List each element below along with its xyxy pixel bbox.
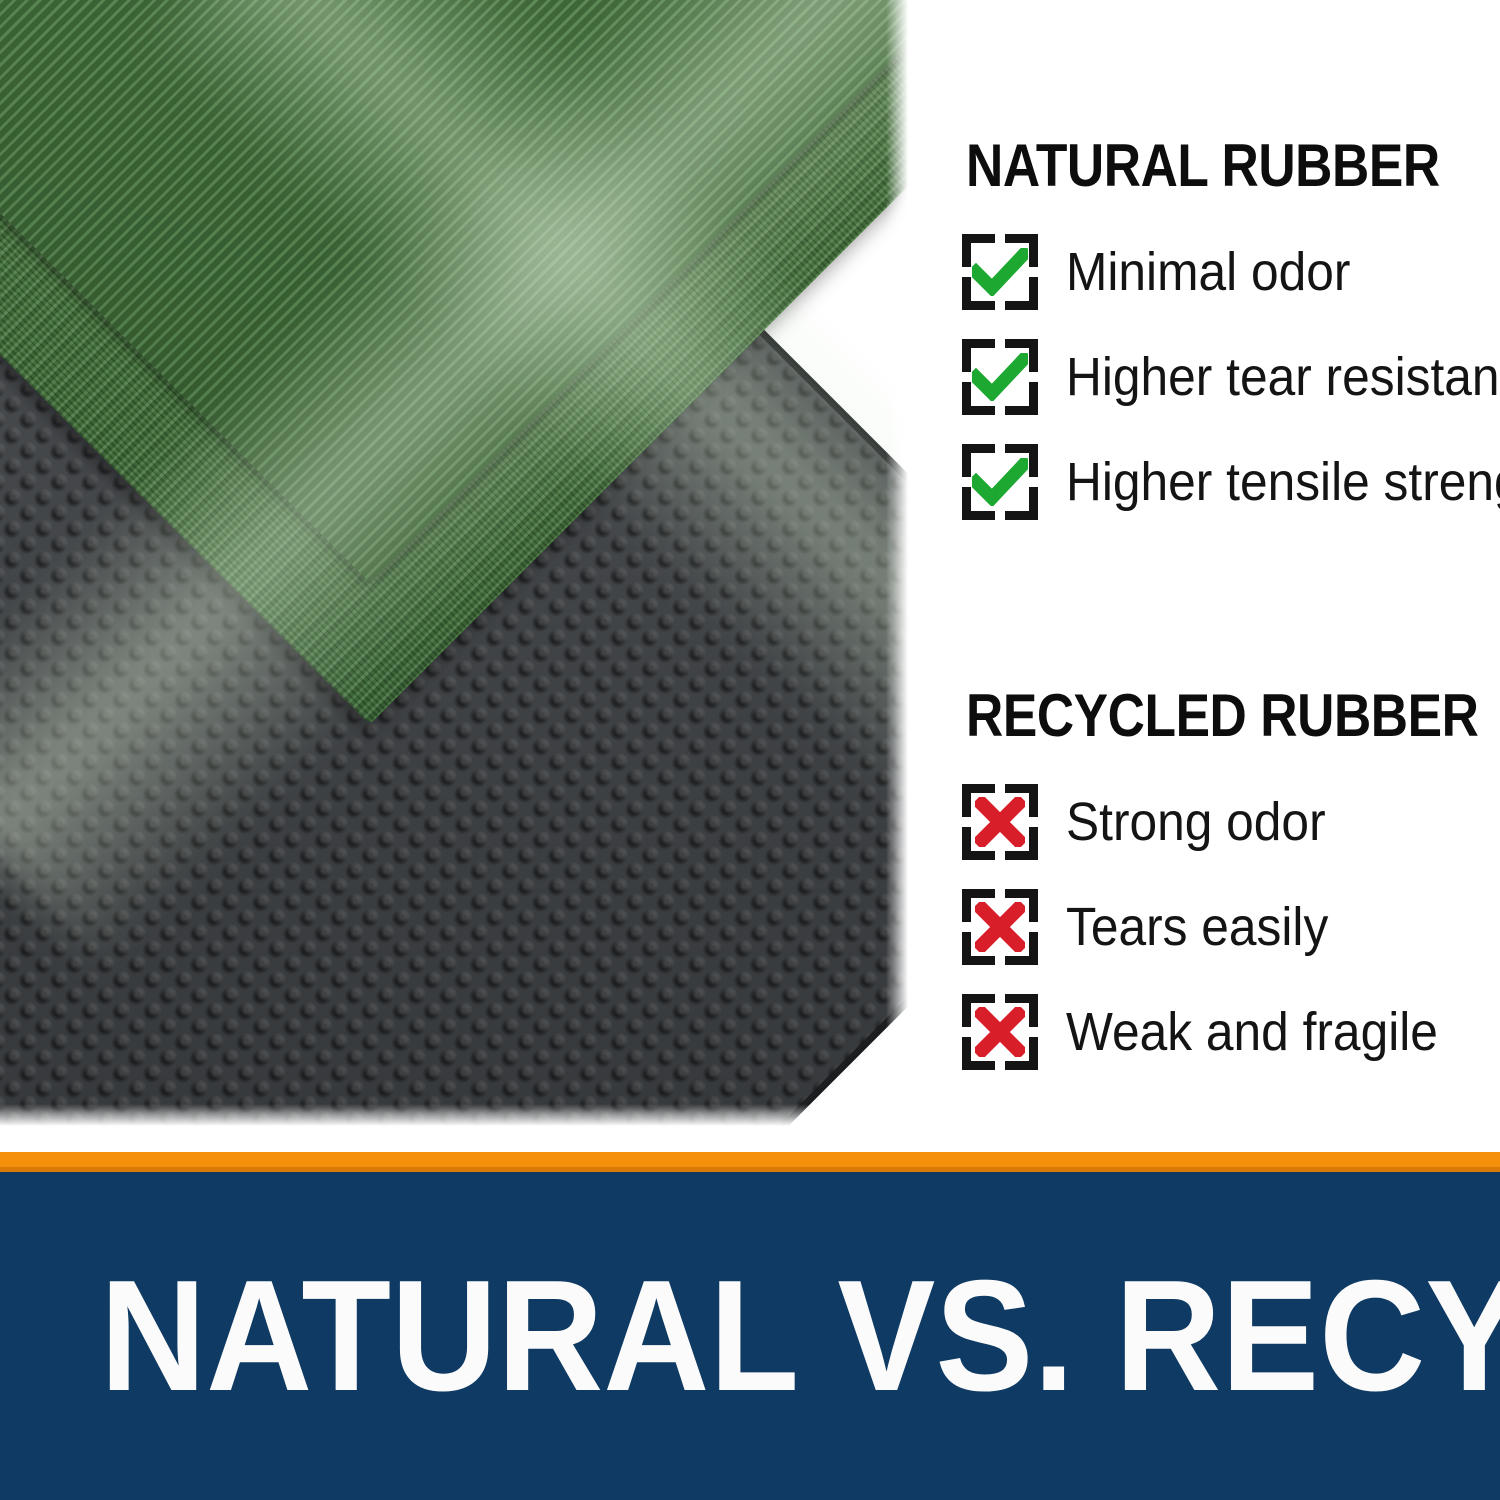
check-icon bbox=[962, 234, 1038, 310]
checkmark-glyph bbox=[972, 248, 1028, 296]
photo-right-fade bbox=[886, 0, 912, 1130]
list-item: Higher tear resistance bbox=[940, 324, 1500, 429]
cross-icon bbox=[962, 994, 1038, 1070]
natural-rubber-heading: NATURAL RUBBER bbox=[966, 135, 1425, 197]
orange-accent-stripe bbox=[0, 1152, 1500, 1172]
cross-glyph bbox=[975, 1007, 1025, 1057]
feature-column: NATURAL RUBBER Minimal odo bbox=[940, 0, 1500, 1130]
cross-glyph bbox=[975, 902, 1025, 952]
list-item-label: Tears easily bbox=[1066, 898, 1328, 956]
feature-group-natural-rubber: NATURAL RUBBER Minimal odo bbox=[940, 135, 1500, 534]
checkmark-glyph bbox=[972, 458, 1028, 506]
banner-top-gap bbox=[0, 1130, 1500, 1152]
list-item: Tears easily bbox=[940, 874, 1500, 979]
banner-title: NATURAL VS. RECYCLED bbox=[100, 1256, 1500, 1416]
list-item-label: Minimal odor bbox=[1066, 243, 1350, 301]
list-item: Strong odor bbox=[940, 769, 1500, 874]
feature-group-recycled-rubber: RECYCLED RUBBER Strong odo bbox=[940, 685, 1500, 1084]
recycled-rubber-heading: RECYCLED RUBBER bbox=[966, 685, 1425, 747]
check-icon bbox=[962, 444, 1038, 520]
list-item: Higher tensile strength bbox=[940, 429, 1500, 534]
list-item: Minimal odor bbox=[940, 219, 1500, 324]
product-photo bbox=[0, 0, 912, 1130]
checkmark-glyph bbox=[972, 353, 1028, 401]
list-item: Weak and fragile bbox=[940, 979, 1500, 1084]
infographic-canvas: NATURAL RUBBER Minimal odo bbox=[0, 0, 1500, 1500]
recycled-rubber-list: Strong odor Tears easily bbox=[940, 769, 1500, 1084]
list-item-label: Higher tensile strength bbox=[1066, 453, 1500, 511]
cross-glyph bbox=[975, 797, 1025, 847]
list-item-label: Higher tear resistance bbox=[1066, 348, 1500, 406]
natural-rubber-list: Minimal odor Higher tear bbox=[940, 219, 1500, 534]
bottom-banner: NATURAL VS. RECYCLED bbox=[0, 1172, 1500, 1500]
cross-icon bbox=[962, 784, 1038, 860]
list-item-label: Strong odor bbox=[1066, 793, 1326, 851]
product-photo-scene bbox=[0, 0, 912, 1130]
photo-bottom-fade bbox=[0, 1104, 912, 1130]
check-icon bbox=[962, 339, 1038, 415]
cross-icon bbox=[962, 889, 1038, 965]
list-item-label: Weak and fragile bbox=[1066, 1003, 1438, 1061]
